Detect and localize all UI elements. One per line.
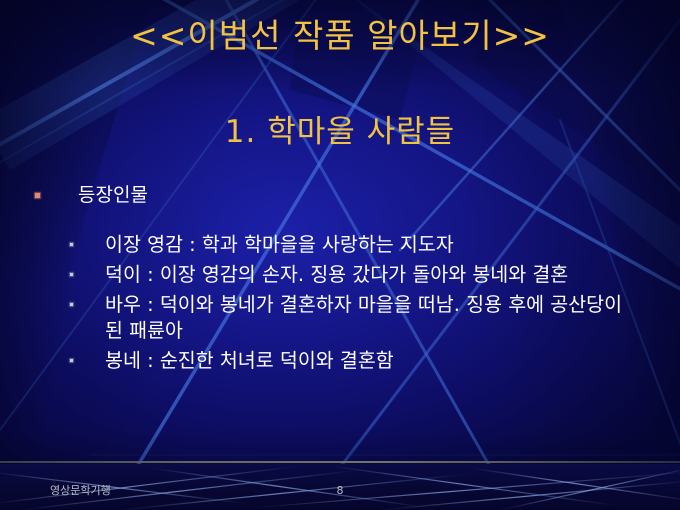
bullet-marker-level2-icon [70,273,73,276]
footer-divider [0,461,680,463]
bullet-level2-text: 봉네 : 순진한 처녀로 덕이와 결혼함 [105,349,394,372]
bullet-marker-level2-icon [70,303,73,306]
bullet-level1: 등장인물 [0,182,680,208]
bullet-level2-text: 이장 영감 : 학과 학마을을 사랑하는 지도자 [105,233,454,256]
bullet-level2-text: 바우 : 덕이와 봉네가 결혼하자 마을을 떠남. 징용 후에 공산당이 된 패… [105,293,622,342]
bullet-level2: 이장 영감 : 학과 학마을을 사랑하는 지도자 [0,232,680,258]
bullet-level2: 봉네 : 순진한 처녀로 덕이와 결혼함 [0,348,680,374]
bullet-level2: 바우 : 덕이와 봉네가 결혼하자 마을을 떠남. 징용 후에 공산당이 된 패… [0,292,680,344]
bullet-marker-level2-icon [70,359,73,362]
slide-body: 등장인물 이장 영감 : 학과 학마을을 사랑하는 지도자 덕이 : 이장 영감… [0,182,680,378]
bullet-marker-level2-icon [70,243,73,246]
slide-title: <<이범선 작품 알아보기>> [0,16,680,56]
bullet-marker-level1-icon [35,193,40,198]
bullet-level2-text: 덕이 : 이장 영감의 손자. 징용 갔다가 돌아와 봉네와 결혼 [105,263,568,286]
bullet-level2: 덕이 : 이장 영감의 손자. 징용 갔다가 돌아와 봉네와 결혼 [0,262,680,288]
slide-number: 8 [0,484,680,498]
presentation-slide: <<이범선 작품 알아보기>> 1. 학마을 사람들 등장인물 이장 영감 : … [0,0,680,510]
bullet-level1-text: 등장인물 [78,184,148,206]
slide-subtitle: 1. 학마을 사람들 [0,112,680,152]
